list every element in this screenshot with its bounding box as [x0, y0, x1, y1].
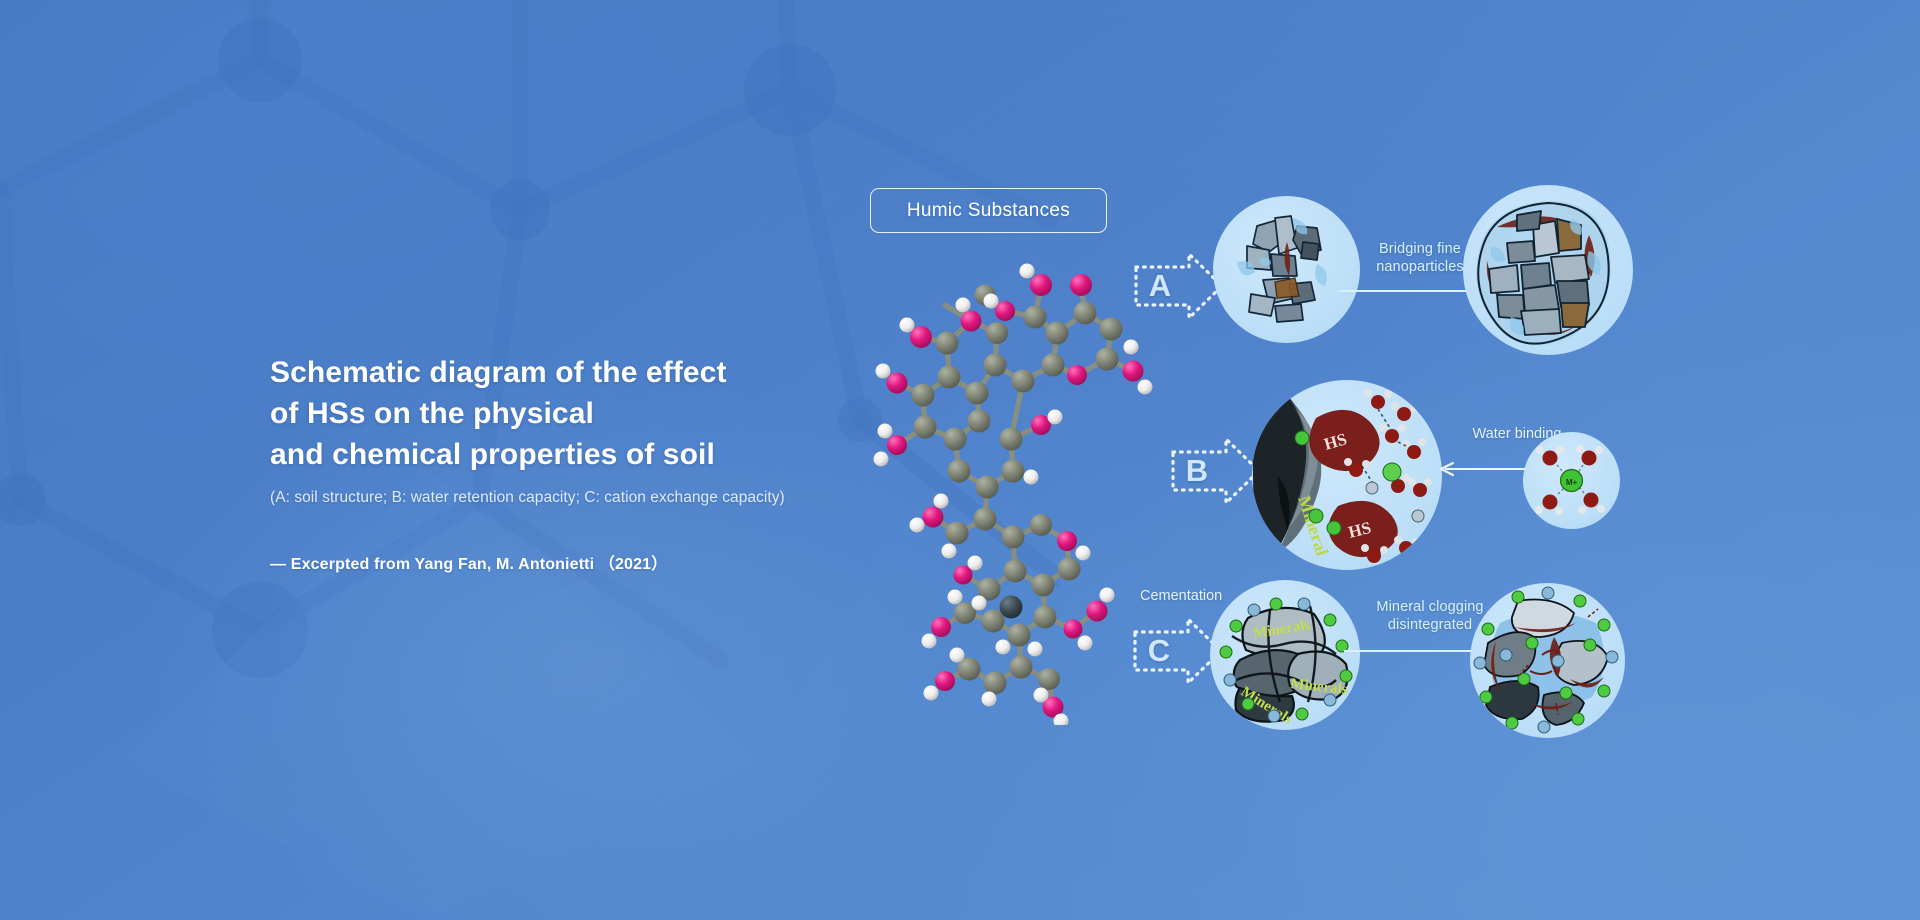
- circle-disintegrated-minerals: [1470, 583, 1625, 738]
- cation-symbol: M+: [1566, 478, 1578, 487]
- humic-substance-molecule-model: [845, 225, 1175, 725]
- disintegrated-minerals-art: [1470, 583, 1625, 738]
- infographic-canvas: Schematic diagram of the effect of HSs o…: [0, 0, 1920, 920]
- nitrogen-atom: [1000, 596, 1023, 619]
- title-block: Schematic diagram of the effect of HSs o…: [270, 352, 910, 574]
- page-title: Schematic diagram of the effect of HSs o…: [270, 352, 910, 475]
- headline-line-3: and chemical properties of soil: [270, 434, 910, 475]
- bound-soil-aggregate-art: [1463, 185, 1633, 355]
- headline-line-1: Schematic diagram of the effect: [270, 352, 910, 393]
- hydrated-cation-art: M+: [1523, 432, 1620, 529]
- headline-line-2: of HSs on the physical: [270, 393, 910, 434]
- stage-arrow-a-label: A: [1133, 250, 1187, 322]
- humic-substances-text: Humic Substances: [907, 200, 1070, 222]
- circle-mineral-water-hs: Mineral HS HS: [1252, 380, 1442, 570]
- circle-cemented-mineral-clog: Minerals Minerals Minerals: [1210, 580, 1360, 730]
- circle-hydrated-cation: M+: [1523, 432, 1620, 529]
- stage-arrow-b-label: B: [1170, 435, 1224, 507]
- mineral-water-hs-art: Mineral HS HS: [1252, 380, 1442, 570]
- pre-label-c: Cementation: [1140, 587, 1222, 605]
- subtitle: (A: soil structure; B: water retention c…: [270, 487, 910, 509]
- cemented-mineral-clog-art: Minerals Minerals Minerals: [1210, 580, 1360, 730]
- stage-arrow-a: A: [1133, 250, 1225, 322]
- circle-bound-soil-aggregate: [1463, 185, 1633, 355]
- stage-arrow-b: B: [1170, 435, 1262, 507]
- source-credit: — Excerpted from Yang Fan, M. Antonietti…: [270, 550, 910, 574]
- stage-arrow-c-label: C: [1132, 615, 1186, 687]
